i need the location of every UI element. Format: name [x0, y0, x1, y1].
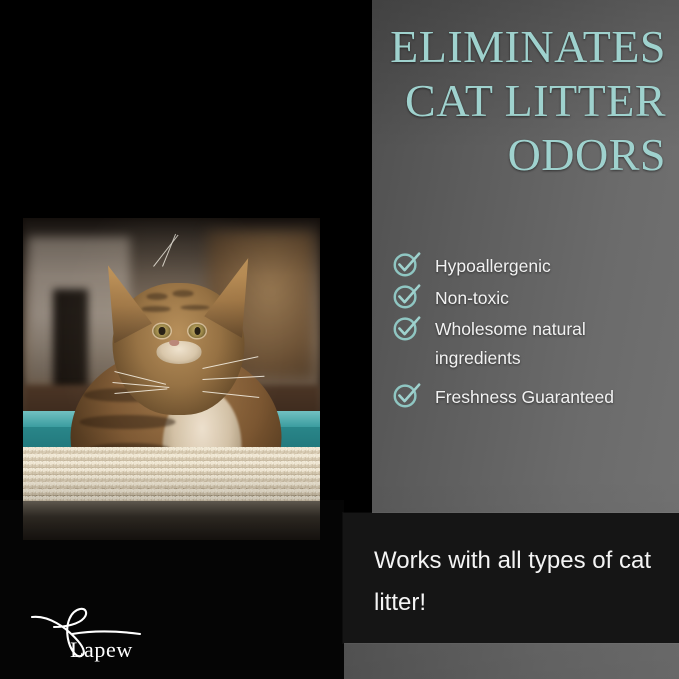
- headline-line-3: ODORS: [300, 128, 666, 182]
- benefit-label: Freshness Guaranteed: [435, 382, 614, 412]
- check-circle-icon: [391, 313, 421, 343]
- check-circle-icon: [391, 380, 421, 410]
- headline-line-2: CAT LITTER: [300, 74, 666, 128]
- kitten-in-litter-box-photo: [23, 218, 320, 540]
- photo-scene: [23, 218, 320, 540]
- headline: ELIMINATES CAT LITTER ODORS: [300, 20, 666, 182]
- product-poster: ELIMINATES CAT LITTER ODORS: [0, 0, 679, 679]
- benefit-item: Non-toxic: [391, 283, 673, 313]
- benefit-item: Wholesome natural ingredients: [391, 315, 673, 373]
- brand-logo: Lapew: [26, 601, 186, 663]
- caption-text: Works with all types of cat litter!: [374, 540, 662, 624]
- benefits-list: Hypoallergenic Non-toxic Wholesome natur…: [391, 251, 673, 414]
- photo-color-grade: [23, 218, 320, 540]
- check-circle-icon: [391, 281, 421, 311]
- headline-line-1: ELIMINATES: [300, 20, 666, 74]
- benefit-label: Non-toxic: [435, 283, 509, 313]
- caption-box: Works with all types of cat litter!: [343, 513, 679, 643]
- benefit-label: Wholesome natural ingredients: [435, 315, 673, 373]
- benefit-item: Freshness Guaranteed: [391, 382, 673, 412]
- benefit-label: Hypoallergenic: [435, 251, 551, 281]
- benefit-item: Hypoallergenic: [391, 251, 673, 281]
- brand-name: Lapew: [70, 637, 133, 663]
- check-circle-icon: [391, 249, 421, 279]
